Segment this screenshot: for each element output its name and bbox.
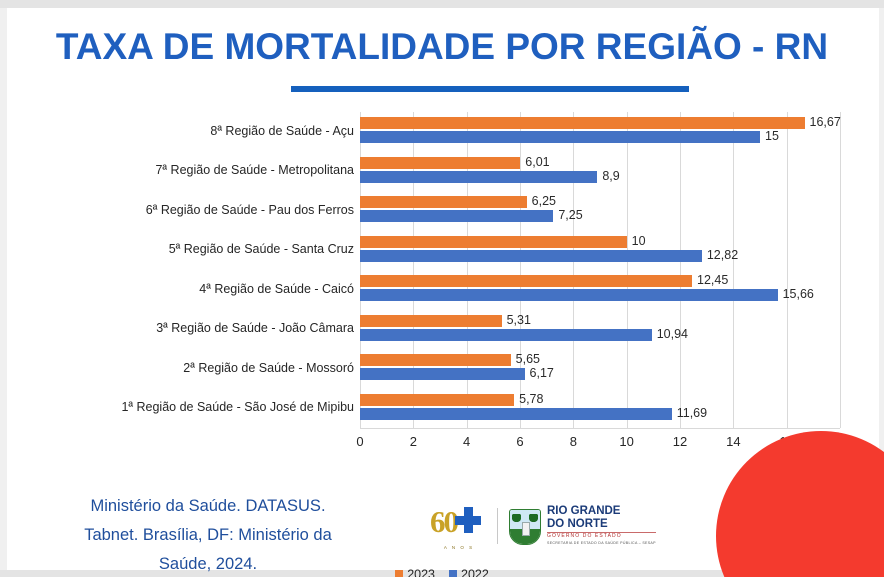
bar-value-label: 5,65: [516, 353, 540, 365]
slide-edge-top: [0, 0, 884, 8]
bar-2022: [360, 171, 597, 183]
source-line-1: Ministério da Saúde. DATASUS.: [28, 492, 388, 521]
bar-value-label: 6,01: [525, 156, 549, 168]
bar-value-label: 12,82: [707, 249, 738, 261]
bar-2023: [360, 196, 527, 208]
rn-logo-line3: GOVERNO DO ESTADO: [547, 532, 656, 539]
bar-value-label: 12,45: [697, 274, 728, 286]
tower-icon: [522, 522, 530, 536]
bar-value-label: 6,25: [532, 195, 556, 207]
rn-logo-text: RIO GRANDE DO NORTE GOVERNO DO ESTADO SE…: [547, 506, 656, 546]
bar-2023: [360, 275, 692, 287]
bar-2022: [360, 329, 652, 341]
bar-2022: [360, 408, 672, 420]
category-label: 3ª Região de Saúde - João Câmara: [24, 321, 354, 335]
chart-bar-group: 5,3110,94: [360, 310, 840, 350]
bar-2022: [360, 250, 702, 262]
bar-chart: 16,67156,018,96,257,251012,8212,4515,665…: [0, 106, 884, 476]
bar-value-label: 16,67: [810, 116, 841, 128]
category-label: 6ª Região de Saúde - Pau dos Ferros: [24, 203, 354, 217]
palm-tree-right-icon: [529, 514, 538, 527]
chart-bar-group: 12,4515,66: [360, 270, 840, 310]
category-label: 4ª Região de Saúde - Caicó: [24, 282, 354, 296]
chart-bar-group: 5,7811,69: [360, 389, 840, 429]
legend-swatch: [395, 570, 403, 577]
bar-value-label: 10,94: [657, 328, 688, 340]
bar-2023: [360, 394, 514, 406]
bar-value-label: 10: [632, 235, 646, 247]
chart-bar-group: 6,018,9: [360, 152, 840, 192]
chart-bar-group: 16,6715: [360, 112, 840, 152]
bar-2023: [360, 236, 627, 248]
category-label: 8ª Região de Saúde - Açu: [24, 124, 354, 138]
x-tick-label: 12: [665, 434, 695, 449]
category-label: 5ª Região de Saúde - Santa Cruz: [24, 242, 354, 256]
bar-value-label: 8,9: [602, 170, 619, 182]
bar-2022: [360, 210, 553, 222]
health-cross-icon: [455, 507, 481, 533]
bar-2022: [360, 289, 778, 301]
category-label: 2ª Região de Saúde - Mossoró: [24, 361, 354, 375]
rio-grande-do-norte-logo: RIO GRANDE DO NORTE GOVERNO DO ESTADO SE…: [505, 506, 656, 546]
slide-title: TAXA DE MORTALIDADE POR REGIÃO - RN: [0, 26, 884, 68]
chart-bar-group: 1012,82: [360, 231, 840, 271]
category-label: 7ª Região de Saúde - Metropolitana: [24, 163, 354, 177]
bar-2023: [360, 157, 520, 169]
bar-2023: [360, 354, 511, 366]
x-tick-label: 6: [505, 434, 535, 449]
bar-2023: [360, 117, 805, 129]
legend-item-2023[interactable]: 2023: [395, 567, 435, 577]
bar-value-label: 5,78: [519, 393, 543, 405]
legend-label: 2022: [461, 568, 489, 577]
shield-icon: [509, 509, 541, 545]
title-underline-rule: [291, 86, 689, 92]
rn-logo-line2: DO NORTE: [547, 519, 656, 531]
x-tick-label: 10: [612, 434, 642, 449]
x-tick-label: 2: [398, 434, 428, 449]
x-tick-label: 4: [452, 434, 482, 449]
sixty-years-logo: 60 A N O S: [428, 502, 490, 550]
footer-logos: 60 A N O S RIO GRANDE DO NORTE GOVERNO D…: [428, 500, 618, 552]
rn-logo-line4: SECRETARIA DE ESTADO DA SAÚDE PÚBLICA – …: [547, 541, 656, 546]
source-line-2: Tabnet. Brasília, DF: Ministério da: [28, 521, 388, 550]
category-axis-line: [360, 428, 840, 429]
chart-bar-group: 5,656,17: [360, 349, 840, 389]
chart-plot-area: 16,67156,018,96,257,251012,8212,4515,665…: [360, 112, 840, 428]
palm-tree-left-icon: [512, 514, 521, 527]
bar-value-label: 6,17: [530, 367, 554, 379]
sixty-years-number: 60: [430, 504, 457, 540]
bar-value-label: 15,66: [783, 288, 814, 300]
source-citation: Ministério da Saúde. DATASUS. Tabnet. Br…: [28, 492, 388, 577]
gridline: [840, 112, 841, 428]
bar-value-label: 15: [765, 130, 779, 142]
legend-label: 2023: [407, 568, 435, 577]
x-tick-label: 8: [558, 434, 588, 449]
bar-2022: [360, 131, 760, 143]
legend-item-2022[interactable]: 2022: [449, 567, 489, 577]
logo-divider: [497, 508, 498, 544]
bar-value-label: 5,31: [507, 314, 531, 326]
bar-2022: [360, 368, 525, 380]
source-line-3: Saúde, 2024.: [28, 550, 388, 577]
bar-value-label: 11,69: [677, 407, 707, 419]
x-tick-label: 0: [345, 434, 375, 449]
slide-canvas: TAXA DE MORTALIDADE POR REGIÃO - RN 16,6…: [0, 0, 884, 577]
bar-value-label: 7,25: [558, 209, 582, 221]
x-tick-label: 14: [718, 434, 748, 449]
state-coat-of-arms-icon: [505, 506, 543, 546]
chart-bar-group: 6,257,25: [360, 191, 840, 231]
legend-swatch: [449, 570, 457, 577]
category-label: 1ª Região de Saúde - São José de Mipibu: [24, 400, 354, 414]
sixty-years-caption: A N O S: [428, 545, 490, 550]
bar-2023: [360, 315, 502, 327]
rn-logo-line1: RIO GRANDE: [547, 506, 656, 518]
